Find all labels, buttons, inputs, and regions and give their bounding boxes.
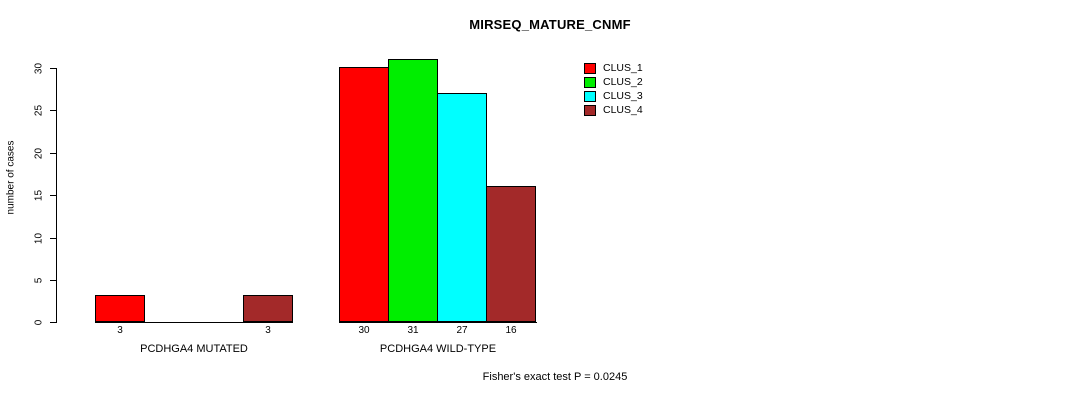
bar-wildtype-clus3[interactable] <box>437 93 487 322</box>
legend-swatch-icon-clus4 <box>584 105 596 116</box>
y-axis-title: number of cases <box>6 113 17 243</box>
y-tick-0 <box>50 322 57 323</box>
y-tick-label-5: 5 <box>34 268 45 294</box>
y-tick-10 <box>50 238 57 239</box>
bar-value-wildtype-clus4: 16 <box>486 325 536 336</box>
y-tick-15 <box>50 195 57 196</box>
bar-wildtype-clus2[interactable] <box>388 59 438 322</box>
group-label-wildtype: PCDHGA4 WILD-TYPE <box>338 343 538 355</box>
y-tick-label-15: 15 <box>34 183 45 209</box>
y-tick-20 <box>50 153 57 154</box>
legend-label-clus2: CLUS_2 <box>603 76 643 88</box>
statistical-annotation-text: Fisher's exact test P = 0.0245 <box>483 371 628 383</box>
y-tick-30 <box>50 68 57 69</box>
y-tick-5 <box>50 280 57 281</box>
group-label-mutated: PCDHGA4 MUTATED <box>94 343 294 355</box>
y-tick-label-30: 30 <box>34 56 45 82</box>
bar-wildtype-clus1[interactable] <box>339 67 389 322</box>
bar-value-mutated-clus1: 3 <box>95 325 145 336</box>
legend-swatch-icon-clus1 <box>584 63 596 74</box>
y-tick-label-10: 10 <box>34 226 45 252</box>
bar-value-wildtype-clus3: 27 <box>437 325 487 336</box>
legend-label-clus3: CLUS_3 <box>603 90 643 102</box>
y-tick-label-25: 25 <box>34 98 45 124</box>
bar-wildtype-clus4[interactable] <box>486 186 536 322</box>
bar-value-mutated-clus4: 3 <box>243 325 293 336</box>
legend-swatch-icon-clus3 <box>584 91 596 102</box>
statistical-annotation: Fisher's exact test P = 0.0245 <box>0 371 1090 383</box>
bar-value-wildtype-clus2: 31 <box>388 325 438 336</box>
legend-label-clus4: CLUS_4 <box>603 104 643 116</box>
chart-title-text: MIRSEQ_MATURE_CNMF <box>469 17 631 32</box>
baseline-group-mutated <box>95 322 293 323</box>
bar-chart: MIRSEQ_MATURE_CNMF number of cases 0 5 1… <box>0 0 1090 400</box>
y-tick-25 <box>50 110 57 111</box>
chart-title: MIRSEQ_MATURE_CNMF <box>0 17 1090 32</box>
baseline-group-wildtype <box>339 322 537 323</box>
bar-mutated-clus4[interactable] <box>243 295 293 322</box>
bar-mutated-clus1[interactable] <box>95 295 145 322</box>
bar-value-wildtype-clus1: 30 <box>339 325 389 336</box>
legend-swatch-icon-clus2 <box>584 77 596 88</box>
legend-label-clus1: CLUS_1 <box>603 62 643 74</box>
y-tick-label-0: 0 <box>34 310 45 336</box>
y-tick-label-20: 20 <box>34 141 45 167</box>
